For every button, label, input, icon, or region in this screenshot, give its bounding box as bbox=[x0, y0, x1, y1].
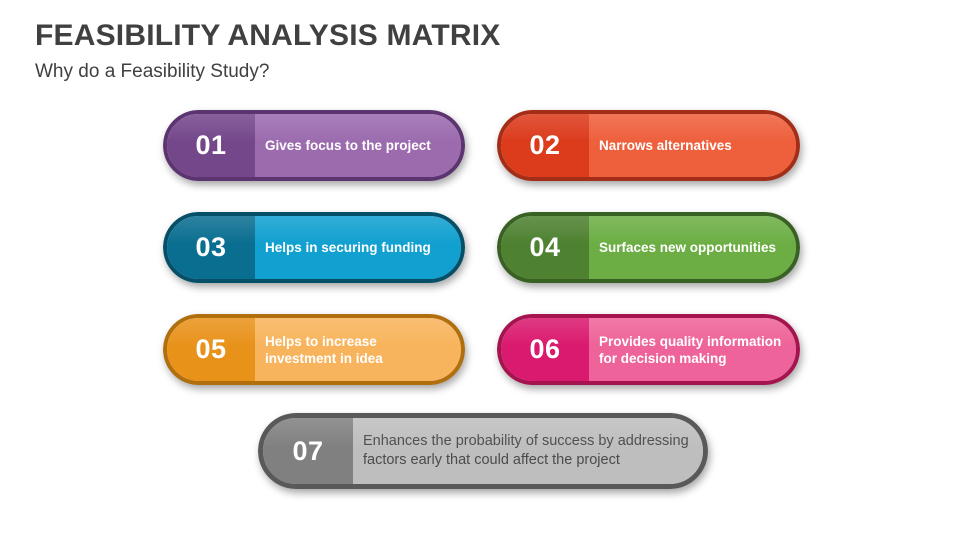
matrix-item-02-body: 02 Narrows alternatives bbox=[497, 110, 800, 181]
matrix-item-03-line1: Helps in securing funding bbox=[265, 239, 431, 256]
matrix-item-01-body: 01 Gives focus to the project bbox=[163, 110, 465, 181]
matrix-item-05-label: Helps to increase investment in idea bbox=[255, 318, 461, 381]
matrix-item-06-body: 06 Provides quality information for deci… bbox=[497, 314, 800, 385]
matrix-item-07-line2: factors early that could affect the proj… bbox=[363, 451, 689, 470]
matrix-item-07-body: 07 Enhances the probability of success b… bbox=[258, 413, 708, 489]
matrix-item-04-label: Surfaces new opportunities bbox=[589, 216, 796, 279]
matrix-item-02-number: 02 bbox=[501, 114, 589, 177]
matrix-item-05-body: 05 Helps to increase investment in idea bbox=[163, 314, 465, 385]
page-title: FEASIBILITY ANALYSIS MATRIX bbox=[35, 19, 500, 53]
matrix-item-04-number: 04 bbox=[501, 216, 589, 279]
matrix-item-06[interactable]: 06 Provides quality information for deci… bbox=[497, 314, 800, 385]
matrix-item-01-number: 01 bbox=[167, 114, 255, 177]
matrix-item-03-number: 03 bbox=[167, 216, 255, 279]
matrix-item-07[interactable]: 07 Enhances the probability of success b… bbox=[258, 413, 708, 489]
matrix-item-06-line2: for decision making bbox=[599, 350, 781, 367]
matrix-item-02-label: Narrows alternatives bbox=[589, 114, 796, 177]
matrix-item-05-line1: Helps to increase bbox=[265, 333, 383, 350]
matrix-item-06-number: 06 bbox=[501, 318, 589, 381]
matrix-item-01-line1: Gives focus to the project bbox=[265, 137, 431, 154]
matrix-item-03-body: 03 Helps in securing funding bbox=[163, 212, 465, 283]
matrix-item-07-label: Enhances the probability of success by a… bbox=[353, 418, 703, 484]
matrix-item-07-number: 07 bbox=[263, 418, 353, 484]
matrix-item-02[interactable]: 02 Narrows alternatives bbox=[497, 110, 800, 181]
matrix-item-03[interactable]: 03 Helps in securing funding bbox=[163, 212, 465, 283]
matrix-item-05-line2: investment in idea bbox=[265, 350, 383, 367]
matrix-item-07-line1: Enhances the probability of success by a… bbox=[363, 432, 689, 451]
matrix-item-05[interactable]: 05 Helps to increase investment in idea bbox=[163, 314, 465, 385]
matrix-item-06-label: Provides quality information for decisio… bbox=[589, 318, 796, 381]
matrix-item-02-line1: Narrows alternatives bbox=[599, 137, 732, 154]
slide-canvas: FEASIBILITY ANALYSIS MATRIX Why do a Fea… bbox=[0, 0, 960, 540]
matrix-item-05-number: 05 bbox=[167, 318, 255, 381]
matrix-item-01-label: Gives focus to the project bbox=[255, 114, 461, 177]
matrix-item-04-line1: Surfaces new opportunities bbox=[599, 239, 776, 256]
matrix-item-03-label: Helps in securing funding bbox=[255, 216, 461, 279]
matrix-item-01[interactable]: 01 Gives focus to the project bbox=[163, 110, 465, 181]
matrix-item-04-body: 04 Surfaces new opportunities bbox=[497, 212, 800, 283]
page-subtitle: Why do a Feasibility Study? bbox=[35, 61, 269, 83]
matrix-item-04[interactable]: 04 Surfaces new opportunities bbox=[497, 212, 800, 283]
matrix-item-06-line1: Provides quality information bbox=[599, 333, 781, 350]
